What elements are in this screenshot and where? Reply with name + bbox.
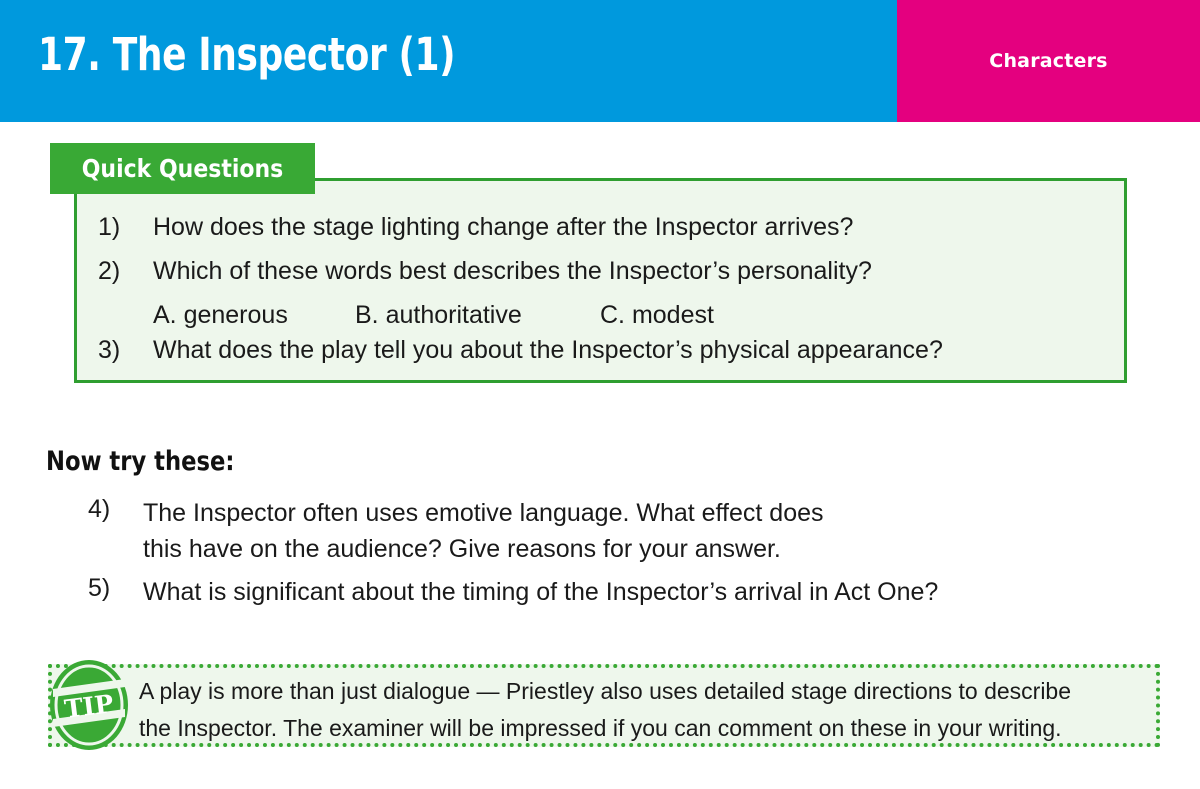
quick-questions-tab: Quick Questions: [50, 143, 315, 194]
choice-option-b[interactable]: B. authoritative: [355, 301, 600, 330]
question-text: The Inspector often uses emotive languag…: [143, 495, 824, 567]
multiple-choice-options: A. generous B. authoritative C. modest: [153, 301, 714, 330]
list-item: 4) The Inspector often uses emotive lang…: [88, 495, 824, 567]
list-item: 2) Which of these words best describes t…: [98, 257, 872, 286]
now-try-these-heading: Now try these:: [46, 446, 234, 477]
quick-questions-tab-label: Quick Questions: [66, 143, 299, 194]
question-text: What does the play tell you about the In…: [153, 336, 943, 365]
question-number: 4): [88, 495, 143, 524]
list-item: 1) How does the stage lighting change af…: [98, 213, 853, 242]
choice-option-a[interactable]: A. generous: [153, 301, 355, 330]
question-number: 1): [98, 213, 153, 242]
list-item: 5) What is significant about the timing …: [88, 574, 938, 610]
list-item: 3) What does the play tell you about the…: [98, 336, 943, 365]
question-text: What is significant about the timing of …: [143, 574, 938, 610]
tip-text: A play is more than just dialogue — Prie…: [139, 673, 1139, 747]
question-text: How does the stage lighting change after…: [153, 213, 853, 242]
question-number: 3): [98, 336, 153, 365]
quick-questions-panel: 1) How does the stage lighting change af…: [74, 178, 1127, 383]
question-number: 2): [98, 257, 153, 286]
page-title: 17. The Inspector (1): [38, 28, 455, 81]
choice-option-c[interactable]: C. modest: [600, 301, 714, 330]
question-text: Which of these words best describes the …: [153, 257, 872, 286]
section-label: Characters: [897, 50, 1200, 72]
tip-badge-text: TIP: [63, 689, 115, 724]
page-header: 17. The Inspector (1) Characters: [0, 0, 1200, 122]
question-number: 5): [88, 574, 143, 603]
tip-badge-icon: TIP: [47, 657, 131, 753]
